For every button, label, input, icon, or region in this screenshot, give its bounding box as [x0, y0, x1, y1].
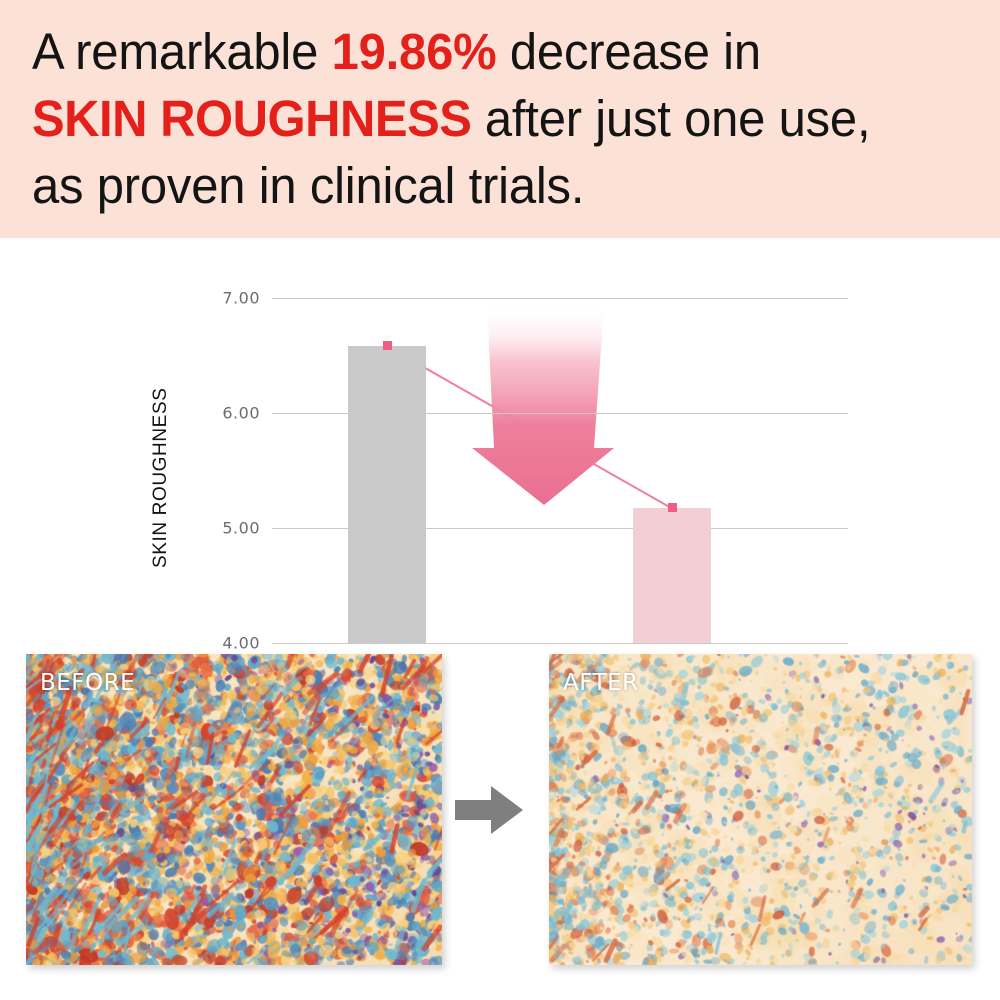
before-image-panel: BEFORE	[26, 654, 442, 965]
chart-data-point-marker	[668, 503, 677, 512]
chart-plot-area: 7.006.005.004.00Before useAfter 1 use	[272, 298, 848, 643]
page-title: A remarkable 19.86% decrease inSKIN ROUG…	[32, 18, 932, 219]
after-image-panel: AFTER	[549, 654, 972, 965]
before-skin-texture	[26, 654, 442, 965]
headline-banner: A remarkable 19.86% decrease inSKIN ROUG…	[0, 0, 1000, 238]
chart-gridline	[272, 643, 848, 644]
headline-part-1: A remarkable	[32, 23, 332, 80]
chart-gridline	[272, 298, 848, 299]
headline-percent: 19.86%	[332, 23, 497, 80]
chart-y-tick: 7.00	[200, 289, 260, 308]
headline-part-4: as proven in clinical trials.	[32, 157, 584, 214]
chart-y-tick: 4.00	[200, 634, 260, 653]
right-arrow-icon	[455, 784, 523, 836]
before-caption: BEFORE	[40, 670, 135, 696]
after-skin-texture	[549, 654, 972, 965]
bar-after-1-use	[633, 508, 711, 643]
headline-metric: SKIN ROUGHNESS	[32, 90, 471, 147]
headline-part-3: after just one use,	[471, 90, 870, 147]
bar-before-use	[348, 346, 426, 643]
headline-part-2: decrease in	[496, 23, 760, 80]
chart-y-tick: 5.00	[200, 519, 260, 538]
roughness-bar-chart: SKIN ROUGHNESS 7.006.005.004.00Before us…	[0, 238, 1000, 638]
chart-y-tick: 6.00	[200, 404, 260, 423]
after-caption: AFTER	[563, 670, 639, 696]
chart-data-point-marker	[383, 341, 392, 350]
chart-y-axis-title: SKIN ROUGHNESS	[150, 388, 172, 569]
